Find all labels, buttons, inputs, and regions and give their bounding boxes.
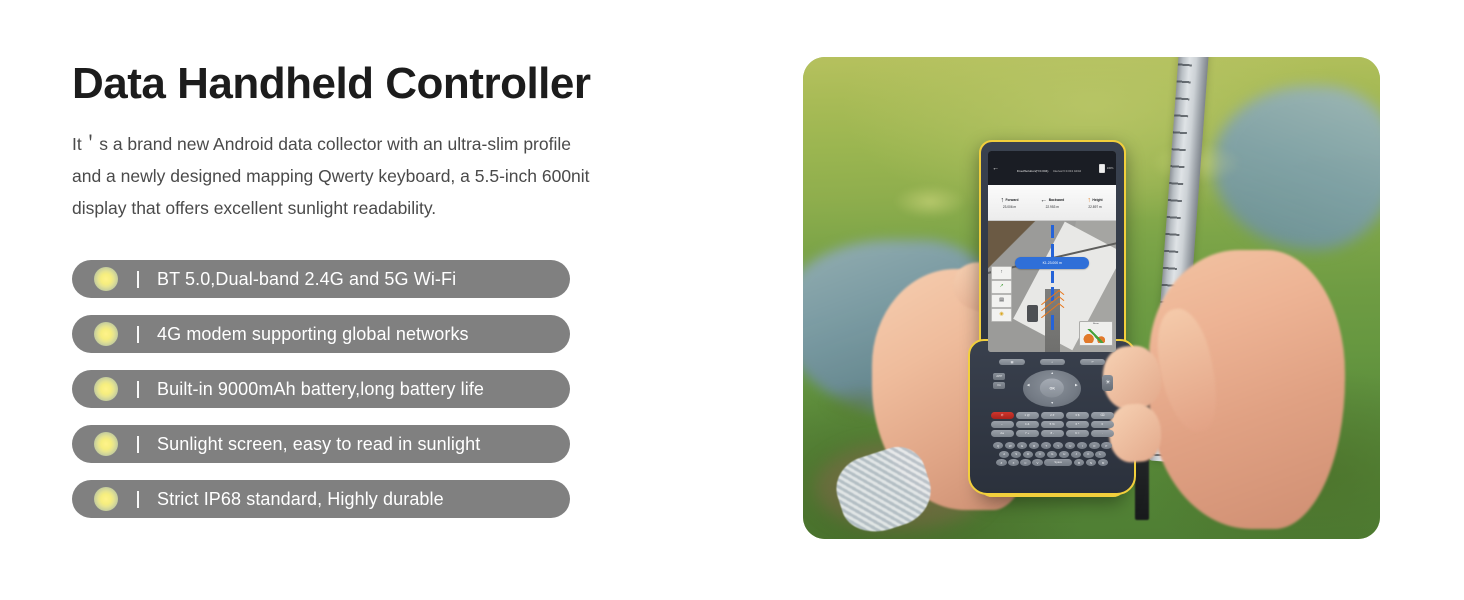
dpad-row: APP Fn ▲ ◀ ▶ ▼ OK ☀ <box>987 369 1118 408</box>
stakeout-backward: ← Backward 22.953 m <box>1031 185 1074 220</box>
function-key-row: ▦ ⌂ ↶ <box>987 359 1118 365</box>
centerline-dash <box>1051 315 1054 329</box>
rover-marker <box>1027 305 1039 322</box>
tool-tilt[interactable]: ↗ <box>991 280 1013 294</box>
num-key[interactable]: 8 - <box>1041 430 1064 437</box>
feature-pill-sunlight-screen[interactable]: Sunlight screen, easy to read in sunligh… <box>72 425 570 463</box>
stakeout-value: 23.006 m <box>1003 205 1016 209</box>
feature-label: Sunlight screen, easy to read in sunligh… <box>157 434 480 455</box>
mini-map-graphic <box>1083 329 1109 343</box>
map-tool-buttons: ↑ ↗ ▤ ◉ <box>991 266 1013 322</box>
key-s[interactable]: S <box>1011 451 1021 458</box>
flashlight-key[interactable]: ☀ <box>1102 375 1113 391</box>
shift-key[interactable]: Aa <box>991 430 1014 437</box>
num-key[interactable]: 5 % <box>1041 421 1064 428</box>
left-key[interactable]: ← <box>991 421 1014 428</box>
key-v[interactable]: V <box>1032 459 1042 466</box>
key-d[interactable]: D <box>1023 451 1033 458</box>
key-r[interactable]: R <box>1029 442 1039 449</box>
product-hero-banner: Data Handheld Controller It＇s a brand ne… <box>0 0 1464 600</box>
dpad-control[interactable]: ▲ ◀ ▶ ▼ OK <box>1023 370 1081 407</box>
num-key[interactable]: 4 & <box>1016 421 1039 428</box>
num-key[interactable]: 2 # <box>1041 412 1064 419</box>
ok-button[interactable]: OK <box>1040 379 1064 398</box>
key-e[interactable]: E <box>1017 442 1027 449</box>
page-title: Data Handheld Controller <box>72 60 712 108</box>
key-y[interactable]: Y <box>1053 442 1063 449</box>
divider <box>137 436 139 453</box>
dpad-left-icon[interactable]: ◀ <box>1027 383 1030 387</box>
bullet-dot-icon <box>94 487 118 511</box>
arrow-left-icon: ← <box>1040 197 1047 204</box>
num-key[interactable]: 0 <box>1091 421 1114 428</box>
description-line-1: It＇s a brand new Android data collector … <box>72 128 652 160</box>
stakeout-value: 22.953 m <box>1046 205 1059 209</box>
num-key[interactable]: 1 @ <box>1016 412 1039 419</box>
num-key[interactable]: 9 = <box>1066 430 1089 437</box>
key-u[interactable]: U <box>1065 442 1075 449</box>
key-w[interactable]: W <box>1005 442 1015 449</box>
key-h[interactable]: H <box>1059 451 1069 458</box>
divider <box>137 381 139 398</box>
solution-status-text: FixedSolution(H:0.004) <box>1017 169 1049 173</box>
bullet-dot-icon <box>94 267 118 291</box>
app-key[interactable]: APP <box>993 373 1005 380</box>
tilt-icon: ↗ <box>999 284 1003 289</box>
feature-label: BT 5.0,Dual-band 2.4G and 5G Wi-Fi <box>157 269 456 290</box>
qwerty-keyboard: Q W E R T Y U I O P A S D <box>987 442 1118 466</box>
bullet-dot-icon <box>94 377 118 401</box>
key-g[interactable]: G <box>1047 451 1057 458</box>
stakeout-values-bar: ↑ Forward 23.006 m ← Backward 22.953 m <box>988 185 1116 221</box>
mini-map-label: Rover <box>1080 323 1111 325</box>
dpad-up-icon[interactable]: ▲ <box>1051 371 1054 375</box>
key-l[interactable]: L <box>1095 451 1105 458</box>
dpad-right-icon[interactable]: ▶ <box>1075 383 1078 387</box>
space-key[interactable]: Space <box>1044 459 1072 466</box>
fn-key[interactable]: Fn <box>993 382 1005 389</box>
period-key[interactable]: . <box>1091 430 1114 437</box>
device-screen[interactable]: ← FixedSolution(H:0.004) Interval V:0.01… <box>988 151 1116 352</box>
bullet-dot-icon <box>94 432 118 456</box>
side-keys: APP Fn <box>993 373 1005 389</box>
key-n[interactable]: N <box>1086 459 1096 466</box>
hero-text-column: Data Handheld Controller It＇s a brand ne… <box>72 60 712 535</box>
key-o[interactable]: O <box>1089 442 1099 449</box>
key-x[interactable]: X <box>1008 459 1018 466</box>
centerline-dash <box>1051 225 1054 238</box>
feature-pill-battery[interactable]: Built-in 9000mAh battery,long battery li… <box>72 370 570 408</box>
key-j[interactable]: J <box>1071 451 1081 458</box>
feature-label: Strict IP68 standard, Highly durable <box>157 489 444 510</box>
tool-rover-electric[interactable]: ▤ <box>991 294 1013 308</box>
rover-icon: ▤ <box>999 298 1004 303</box>
stakeout-label: Forward <box>1005 198 1018 202</box>
key-c[interactable]: C <box>1020 459 1030 466</box>
key-f[interactable]: F <box>1035 451 1045 458</box>
arrow-height-icon: ↑ <box>1087 197 1091 204</box>
key-k[interactable]: K <box>1083 451 1093 458</box>
handheld-controller-device: ← FixedSolution(H:0.004) Interval V:0.01… <box>979 140 1126 497</box>
key-b[interactable]: B <box>1074 459 1084 466</box>
map-view[interactable]: K1.23.000 m ↑ ↗ ▤ <box>988 221 1116 352</box>
qwerty-row-3: Z X C V Space B N M <box>989 459 1116 466</box>
description-line-3: display that offers excellent sunlight r… <box>72 192 652 224</box>
key-m[interactable]: M <box>1098 459 1108 466</box>
battery-icon <box>1099 164 1105 173</box>
stakeout-label: Backward <box>1049 198 1065 202</box>
feature-label: 4G modem supporting global networks <box>157 324 469 345</box>
dpad-down-icon[interactable]: ▼ <box>1051 401 1054 405</box>
feature-list: BT 5.0,Dual-band 2.4G and 5G Wi-Fi 4G mo… <box>72 260 712 518</box>
feature-pill-connectivity[interactable]: BT 5.0,Dual-band 2.4G and 5G Wi-Fi <box>72 260 570 298</box>
num-key[interactable]: 6 * <box>1066 421 1089 428</box>
battery-percent-label: 100% <box>1107 167 1114 170</box>
setup-icon: ◉ <box>999 312 1003 317</box>
feature-label: Built-in 9000mAh battery,long battery li… <box>157 379 484 400</box>
status-detail-text: Interval V:0.013 42/42 <box>1053 169 1081 173</box>
hero-description: It＇s a brand new Android data collector … <box>72 128 652 224</box>
antenna-icon: ↑ <box>1000 270 1003 275</box>
chainage-label: K1.23.000 m <box>1015 257 1089 269</box>
mini-map-panel[interactable]: Rover <box>1079 321 1112 346</box>
feature-pill-ip68[interactable]: Strict IP68 standard, Highly durable <box>72 480 570 518</box>
tool-antenna-height[interactable]: ↑ <box>991 266 1013 280</box>
feature-pill-4g-modem[interactable]: 4G modem supporting global networks <box>72 315 570 353</box>
arrow-up-icon: ↑ <box>1000 197 1004 204</box>
stakeout-value: 22.897 m <box>1088 205 1101 209</box>
key-p[interactable]: P <box>1101 442 1111 449</box>
menu-key[interactable]: ▦ <box>999 359 1024 365</box>
key-q[interactable]: Q <box>993 442 1003 449</box>
power-key[interactable]: ⏻ <box>991 412 1014 419</box>
key-a[interactable]: A <box>999 451 1009 458</box>
divider <box>137 326 139 343</box>
backspace-key[interactable]: ⌫ <box>1091 412 1114 419</box>
status-text-group: FixedSolution(H:0.004) Interval V:0.013 … <box>999 160 1099 176</box>
bullet-dot-icon <box>94 322 118 346</box>
number-keys-grid: ⏻ 1 @ 2 # 3 $ ⌫ ← 4 & 5 % 6 * 0 Aa 7 + 8… <box>987 412 1118 437</box>
back-key[interactable]: ↶ <box>1080 359 1105 365</box>
stakeout-forward: ↑ Forward 23.006 m <box>988 185 1031 220</box>
home-key[interactable]: ⌂ <box>1040 359 1065 365</box>
num-key[interactable]: 3 $ <box>1066 412 1089 419</box>
key-z[interactable]: Z <box>996 459 1006 466</box>
description-line-2: and a newly designed mapping Qwerty keyb… <box>72 160 652 192</box>
qwerty-row-2: A S D F G H J K L <box>989 451 1116 458</box>
qwerty-row-1: Q W E R T Y U I O P <box>989 442 1116 449</box>
product-photo: ← FixedSolution(H:0.004) Interval V:0.01… <box>803 57 1380 539</box>
stakeout-height: ↑ Height 22.897 m <box>1074 185 1117 220</box>
key-t[interactable]: T <box>1041 442 1051 449</box>
back-arrow-icon[interactable]: ← <box>992 165 999 172</box>
divider <box>137 271 139 288</box>
centerline-dash <box>1051 244 1054 257</box>
divider <box>137 491 139 508</box>
stakeout-label: Height <box>1092 198 1102 202</box>
centerline-dash <box>1051 271 1054 283</box>
tool-setup[interactable]: ◉ <box>991 308 1013 322</box>
num-key[interactable]: 7 + <box>1016 430 1039 437</box>
device-status-bar: ← FixedSolution(H:0.004) Interval V:0.01… <box>988 151 1116 185</box>
key-i[interactable]: I <box>1077 442 1087 449</box>
device-keypad[interactable]: ▦ ⌂ ↶ APP Fn ▲ ◀ ▶ ▼ OK <box>987 359 1118 489</box>
